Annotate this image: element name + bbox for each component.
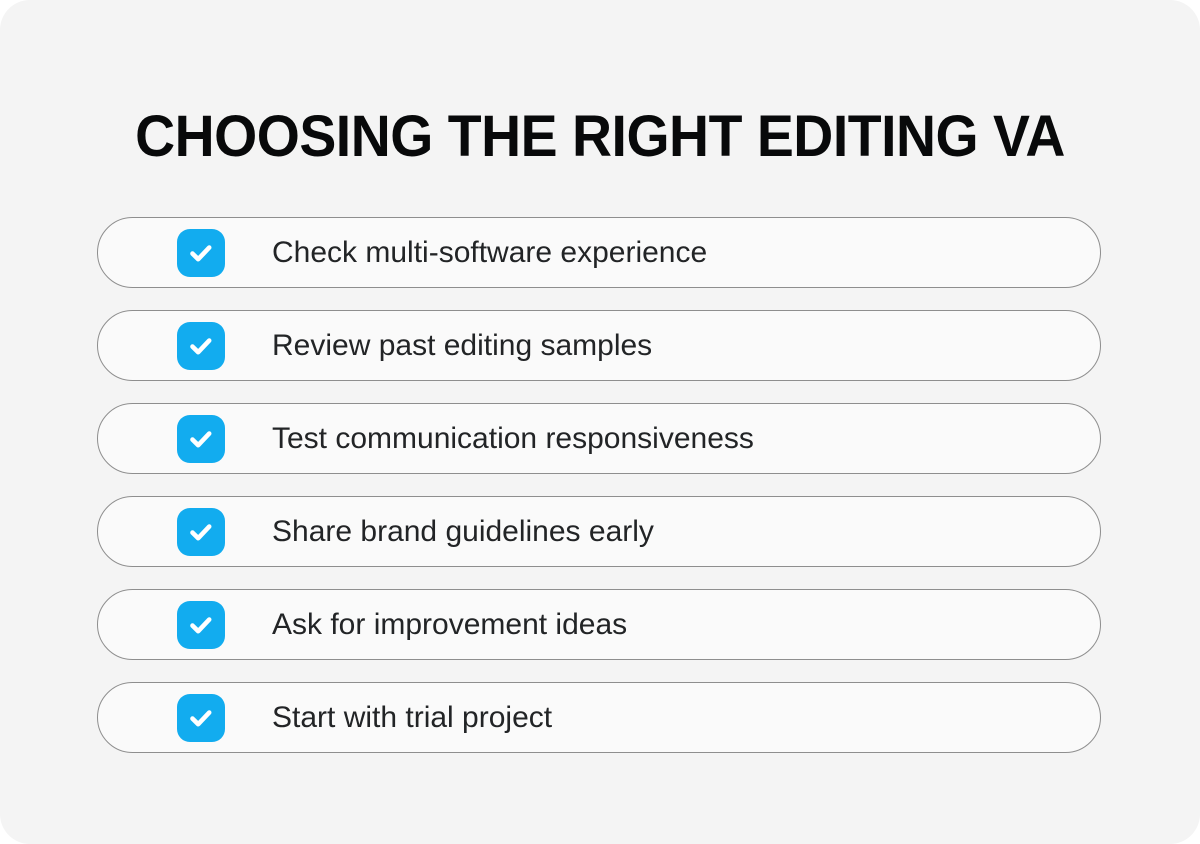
list-item[interactable]: Check multi-software experience	[97, 217, 1101, 288]
check-icon[interactable]	[177, 415, 225, 463]
check-icon[interactable]	[177, 694, 225, 742]
list-item-label: Review past editing samples	[272, 328, 652, 364]
check-icon[interactable]	[177, 229, 225, 277]
list-item[interactable]: Ask for improvement ideas	[97, 589, 1101, 660]
list-item-label: Check multi-software experience	[272, 235, 707, 271]
page-title: CHOOSING THE RIGHT EDITING VA	[27, 102, 1173, 172]
infographic-card: CHOOSING THE RIGHT EDITING VA Check mult…	[0, 0, 1200, 844]
list-item[interactable]: Share brand guidelines early	[97, 496, 1101, 567]
list-item-label: Start with trial project	[272, 700, 552, 736]
list-item[interactable]: Start with trial project	[97, 682, 1101, 753]
list-item-label: Test communication responsiveness	[272, 421, 754, 457]
list-item[interactable]: Review past editing samples	[97, 310, 1101, 381]
check-icon[interactable]	[177, 601, 225, 649]
check-icon[interactable]	[177, 322, 225, 370]
list-item[interactable]: Test communication responsiveness	[97, 403, 1101, 474]
checklist: Check multi-software experience Review p…	[97, 217, 1101, 753]
list-item-label: Share brand guidelines early	[272, 514, 654, 550]
list-item-label: Ask for improvement ideas	[272, 607, 627, 643]
check-icon[interactable]	[177, 508, 225, 556]
